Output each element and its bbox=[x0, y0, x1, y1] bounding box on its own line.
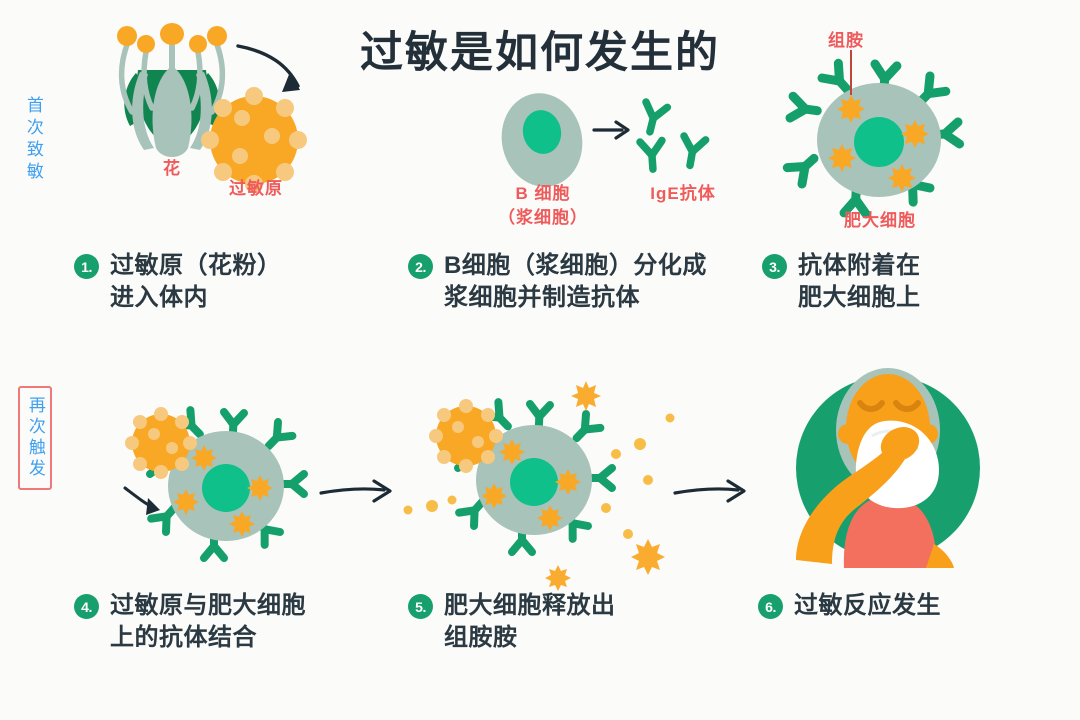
step-item-6: 6. 过敏反应发生 bbox=[758, 590, 1048, 622]
arrow-step-4-to-5 bbox=[318, 478, 398, 504]
arrow-right-icon bbox=[318, 478, 398, 504]
pollen-grain-icon bbox=[125, 407, 197, 479]
label-mast-cell: 肥大细胞 bbox=[800, 210, 960, 233]
step-label: B细胞（浆细胞）分化成 浆细胞并制造抗体 bbox=[444, 250, 707, 313]
illustration-mast-cell bbox=[780, 56, 980, 221]
step-item-3: 3. 抗体附着在 肥大细胞上 bbox=[762, 250, 1042, 313]
pollen-grain-icon bbox=[429, 399, 503, 473]
step-label: 过敏反应发生 bbox=[794, 590, 941, 622]
illustration-step-6 bbox=[776, 368, 1006, 568]
step-label: 过敏原与肥大细胞 上的抗体结合 bbox=[110, 590, 306, 653]
step-label: 肥大细胞释放出 组胺胺 bbox=[444, 590, 616, 653]
step-number-badge: 1. bbox=[74, 254, 99, 279]
label-b-cell-line1: B 细胞 bbox=[468, 183, 618, 206]
illustration-ige-antibodies bbox=[628, 98, 738, 193]
step-number-badge: 4. bbox=[74, 594, 99, 619]
step-label: 抗体附着在 肥大细胞上 bbox=[798, 250, 921, 313]
arrow-step-5-to-6 bbox=[672, 478, 752, 504]
label-b-cell-line2: （浆细胞） bbox=[468, 207, 618, 230]
label-allergen: 过敏原 bbox=[196, 178, 316, 201]
step-number-badge: 5. bbox=[408, 594, 433, 619]
illustration-step-5 bbox=[400, 388, 690, 583]
label-histamine: 组胺 bbox=[786, 30, 906, 53]
step-item-5: 5. 肥大细胞释放出 组胺胺 bbox=[408, 590, 708, 653]
ige-antibody-icon bbox=[628, 98, 738, 193]
step-item-2: 2. B细胞（浆细胞）分化成 浆细胞并制造抗体 bbox=[408, 250, 748, 313]
sneezing-person-icon bbox=[776, 368, 1006, 568]
label-ige-antibody: IgE抗体 bbox=[608, 183, 758, 206]
illustration-b-cell bbox=[490, 88, 600, 198]
phase-label-first-sensitization: 首次致敏 bbox=[24, 96, 42, 184]
arrow-right-icon bbox=[592, 118, 632, 142]
step-number-badge: 6. bbox=[758, 594, 783, 619]
phase-label-re-trigger: 再次触发 bbox=[18, 386, 52, 490]
mast-cell-icon bbox=[780, 56, 980, 221]
mast-cell-icon bbox=[400, 388, 690, 583]
arrow-right-icon bbox=[672, 478, 752, 504]
infographic-canvas: 过敏是如何发生的 首次致敏 再次触发 bbox=[0, 0, 1080, 720]
step-number-badge: 3. bbox=[762, 254, 787, 279]
arrow-b-cell-to-antibody bbox=[592, 118, 632, 142]
step-item-4: 4. 过敏原与肥大细胞 上的抗体结合 bbox=[74, 590, 394, 653]
b-cell-icon bbox=[490, 88, 600, 198]
step-number-badge: 2. bbox=[408, 254, 433, 279]
step-item-1: 1. 过敏原（花粉） 进入体内 bbox=[74, 250, 374, 313]
step-label: 过敏原（花粉） 进入体内 bbox=[110, 250, 282, 313]
